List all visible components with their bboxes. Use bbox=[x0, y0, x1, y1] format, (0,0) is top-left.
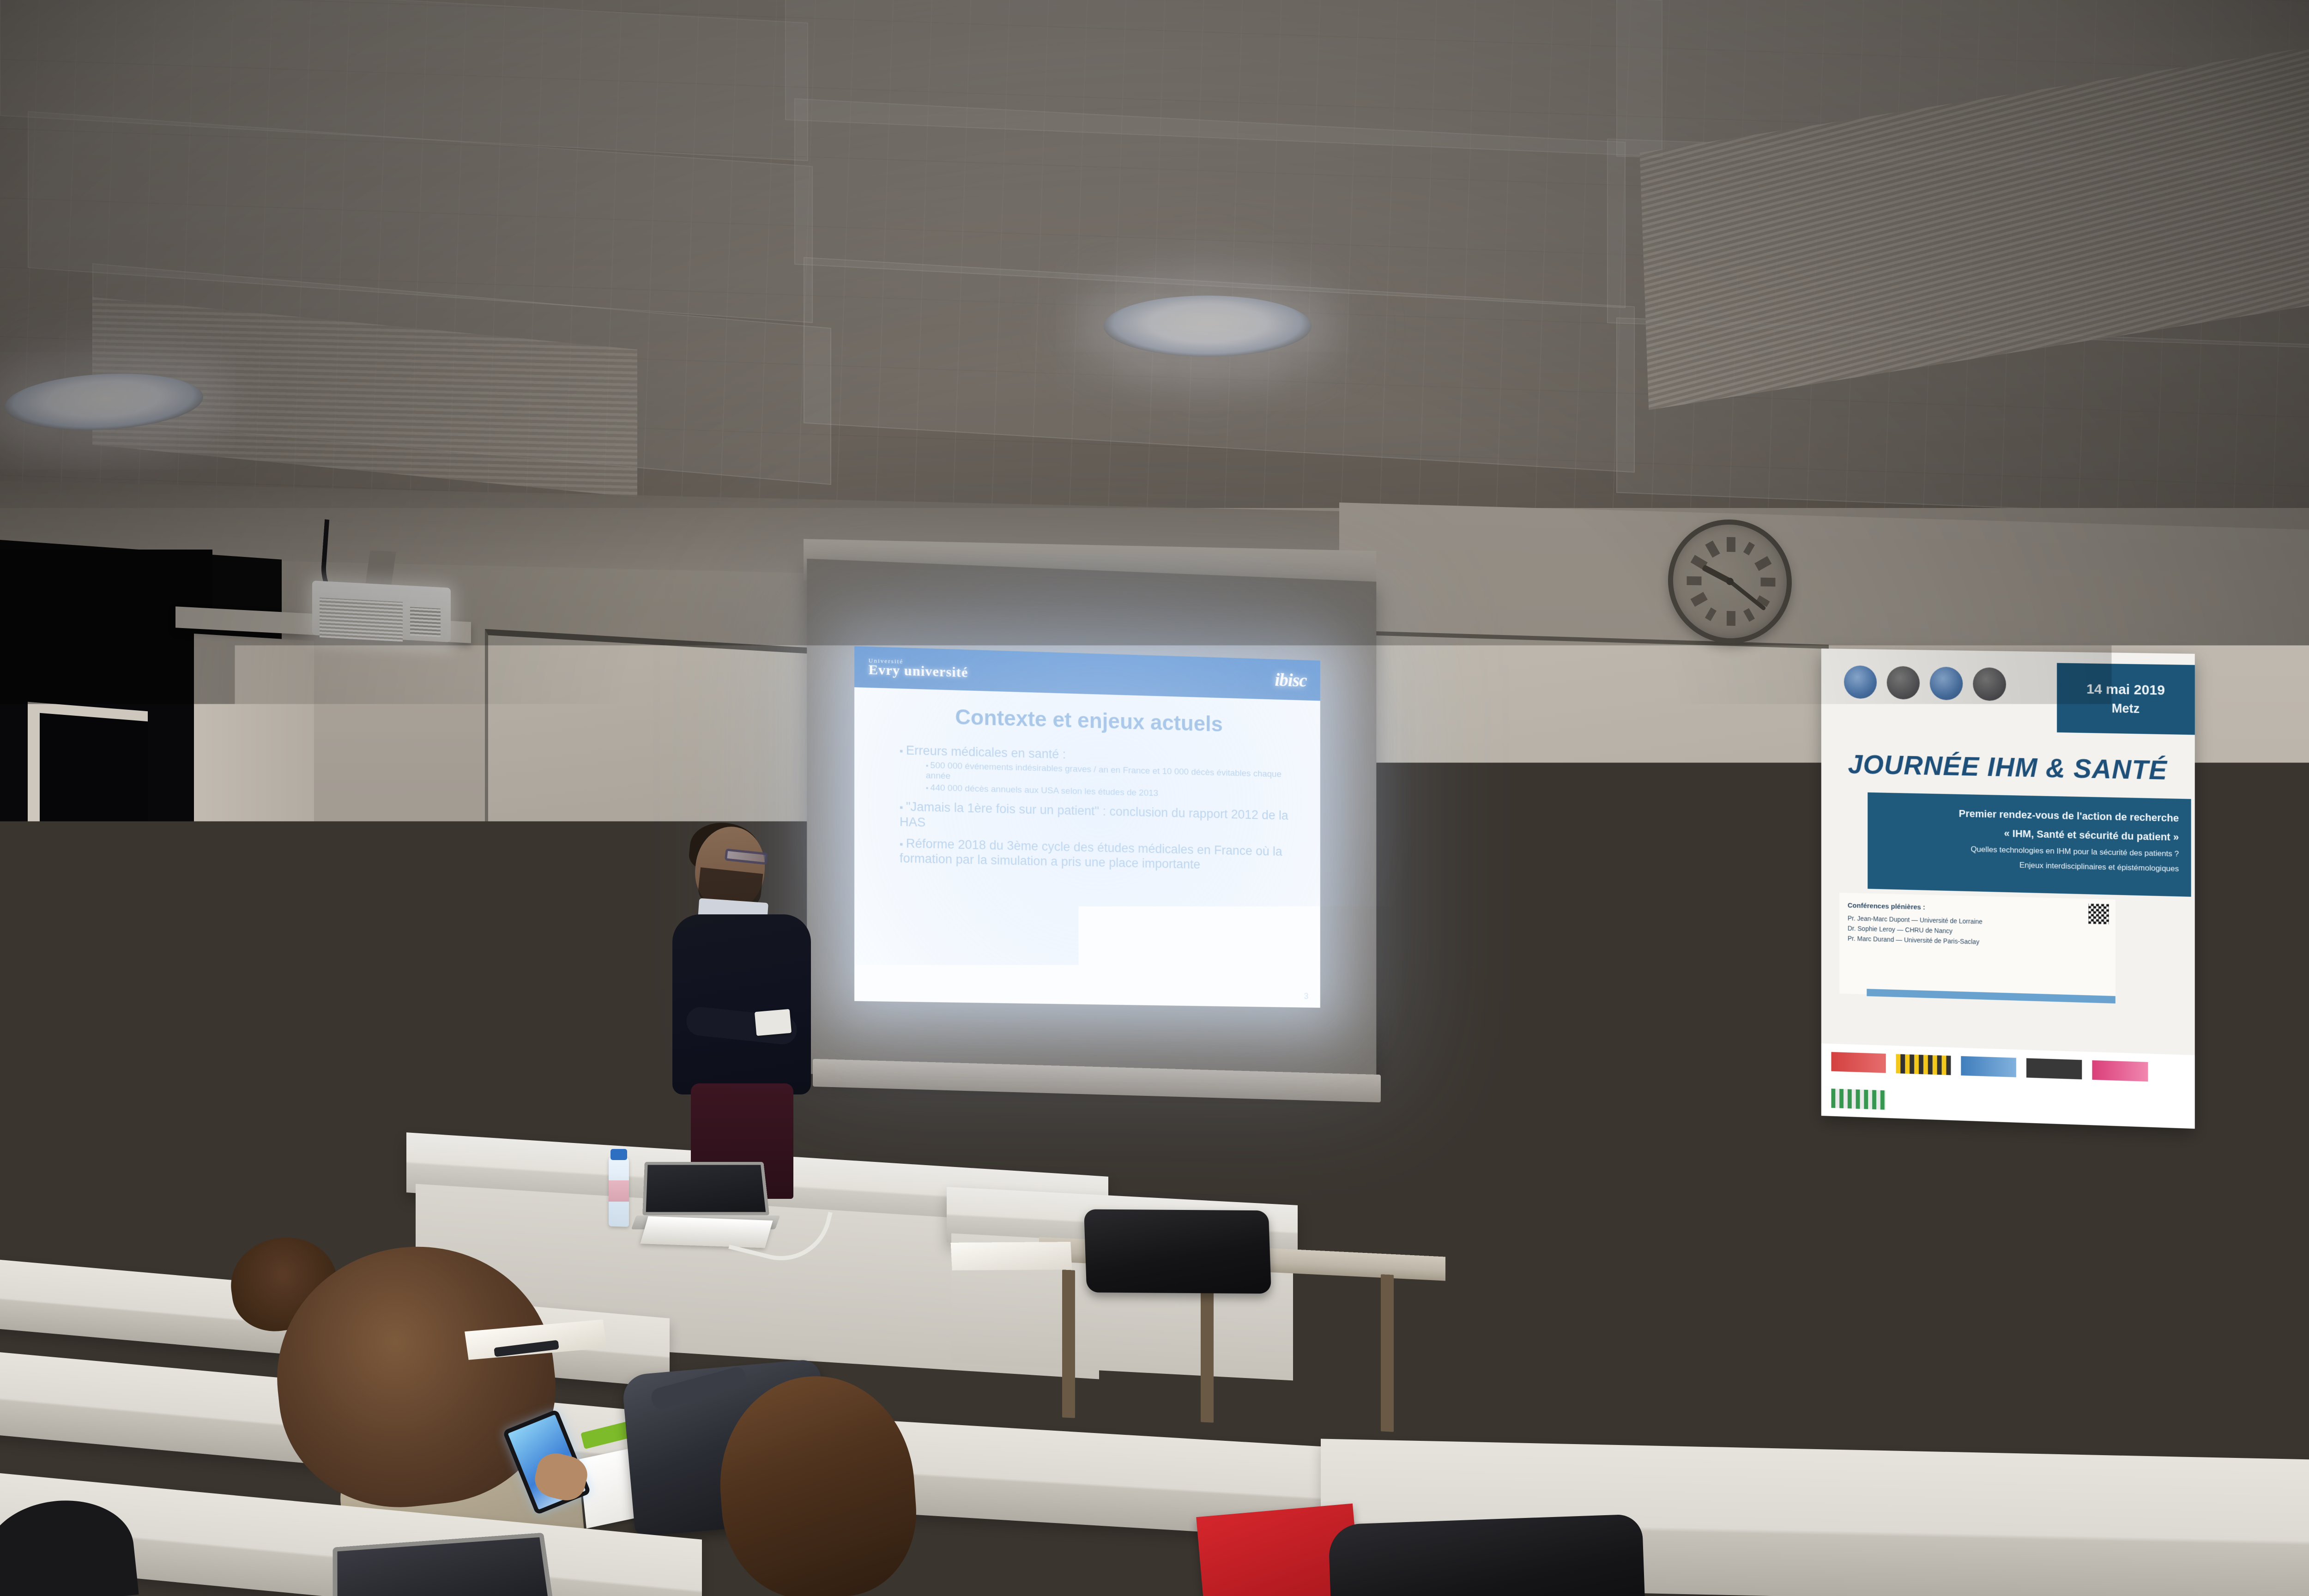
bottle-cap bbox=[610, 1149, 627, 1160]
table-leg bbox=[152, 1052, 164, 1191]
poster-title: JOURNÉE IHM & SANTÉ bbox=[1821, 749, 2195, 787]
slide-title: Contexte et enjeux actuels bbox=[854, 701, 1320, 739]
projector-vent bbox=[320, 598, 403, 641]
black-bag bbox=[1084, 1209, 1271, 1294]
ceiling-projector bbox=[312, 571, 451, 643]
projected-slide: Université Evry université ibisc Context… bbox=[854, 646, 1320, 1008]
sponsor-logo-icon bbox=[2092, 1060, 2148, 1082]
water-bottle-pack bbox=[249, 986, 314, 1036]
clock-numeral-IX bbox=[1687, 576, 1702, 586]
ceiling bbox=[0, 0, 2309, 545]
student-foreground-right bbox=[720, 1376, 942, 1596]
bottle-label bbox=[609, 1180, 629, 1202]
partner-logo-icon bbox=[1844, 665, 1877, 699]
projector-body bbox=[312, 580, 451, 642]
black-coat bbox=[1328, 1514, 1646, 1596]
wall-column bbox=[194, 634, 314, 1251]
clock-numeral-II bbox=[1754, 556, 1771, 571]
partner-logo-icon bbox=[1973, 667, 2006, 701]
clock-numeral-VIII bbox=[1691, 592, 1708, 607]
whiteboard-right bbox=[1330, 630, 1829, 1051]
conference-poster: 14 mai 2019 Metz JOURNÉE IHM & SANTÉ Pre… bbox=[1821, 648, 2195, 1129]
qr-code-icon bbox=[2088, 903, 2109, 924]
clock-numeral-III bbox=[1761, 578, 1776, 587]
poster-city: Metz bbox=[2112, 701, 2140, 716]
presenter-sweater bbox=[672, 914, 811, 1094]
poster-speakers-panel: Conférences plénières : Pr. Jean-Marc Du… bbox=[1839, 893, 2116, 1002]
classroom-photo: Université Evry université ibisc Context… bbox=[0, 0, 2309, 1596]
clock-numeral-VI bbox=[1727, 611, 1735, 626]
partner-logo-icon bbox=[1930, 667, 1963, 701]
slide-page-number: 3 bbox=[1304, 991, 1309, 1001]
clock-numeral-I bbox=[1743, 542, 1755, 556]
presenter bbox=[670, 827, 817, 1191]
sponsor-logo-icon bbox=[1896, 1054, 1951, 1075]
sponsor-logo-icon bbox=[1831, 1052, 1886, 1073]
sponsor-logo-icon bbox=[2026, 1058, 2082, 1079]
poster-date-box: 14 mai 2019 Metz bbox=[2057, 663, 2195, 735]
student-hair bbox=[713, 1370, 922, 1596]
wall-marker bbox=[1847, 1350, 1881, 1364]
sponsor-logo-icon bbox=[1961, 1056, 2016, 1077]
table-leg bbox=[1381, 1274, 1394, 1432]
loose-papers bbox=[951, 1242, 1072, 1270]
clock-numeral-VII bbox=[1705, 607, 1717, 621]
projector-mount bbox=[365, 550, 396, 588]
partner-logo-icon bbox=[1887, 666, 1920, 700]
table-leg bbox=[369, 1062, 381, 1201]
evry-university-logo: Université Evry université bbox=[869, 658, 968, 680]
slide-bullet: "Jamais la 1ère fois sur un patient" : c… bbox=[900, 799, 1305, 838]
ibisc-lab-logo: ibisc bbox=[1275, 669, 1306, 691]
clock-center-pin bbox=[1726, 578, 1734, 585]
slide-body: Erreurs médicales en santé : 500 000 évé… bbox=[900, 743, 1305, 874]
name-badge bbox=[755, 1009, 792, 1036]
sponsor-logo-icon bbox=[1831, 1088, 1886, 1110]
clock-numeral-V bbox=[1743, 608, 1755, 622]
table-leg bbox=[1201, 1279, 1214, 1422]
doorway[interactable] bbox=[28, 702, 148, 1256]
poster-sponsor-bar bbox=[1821, 1043, 2195, 1129]
poster-date: 14 mai 2019 bbox=[2086, 681, 2165, 698]
wall-marker bbox=[1441, 1306, 1475, 1320]
poster-partner-logos bbox=[1844, 665, 2006, 701]
poster-description-block: Premier rendez-vous de l'action de reche… bbox=[1868, 792, 2191, 897]
projector-vent bbox=[410, 607, 441, 637]
table-leg bbox=[1062, 1270, 1075, 1418]
slide-bullet: Réforme 2018 du 3ème cycle des études mé… bbox=[900, 836, 1305, 875]
clock-numeral-XI bbox=[1705, 540, 1720, 557]
clock-numeral-XII bbox=[1727, 537, 1735, 552]
ceiling-light bbox=[1104, 296, 1312, 357]
